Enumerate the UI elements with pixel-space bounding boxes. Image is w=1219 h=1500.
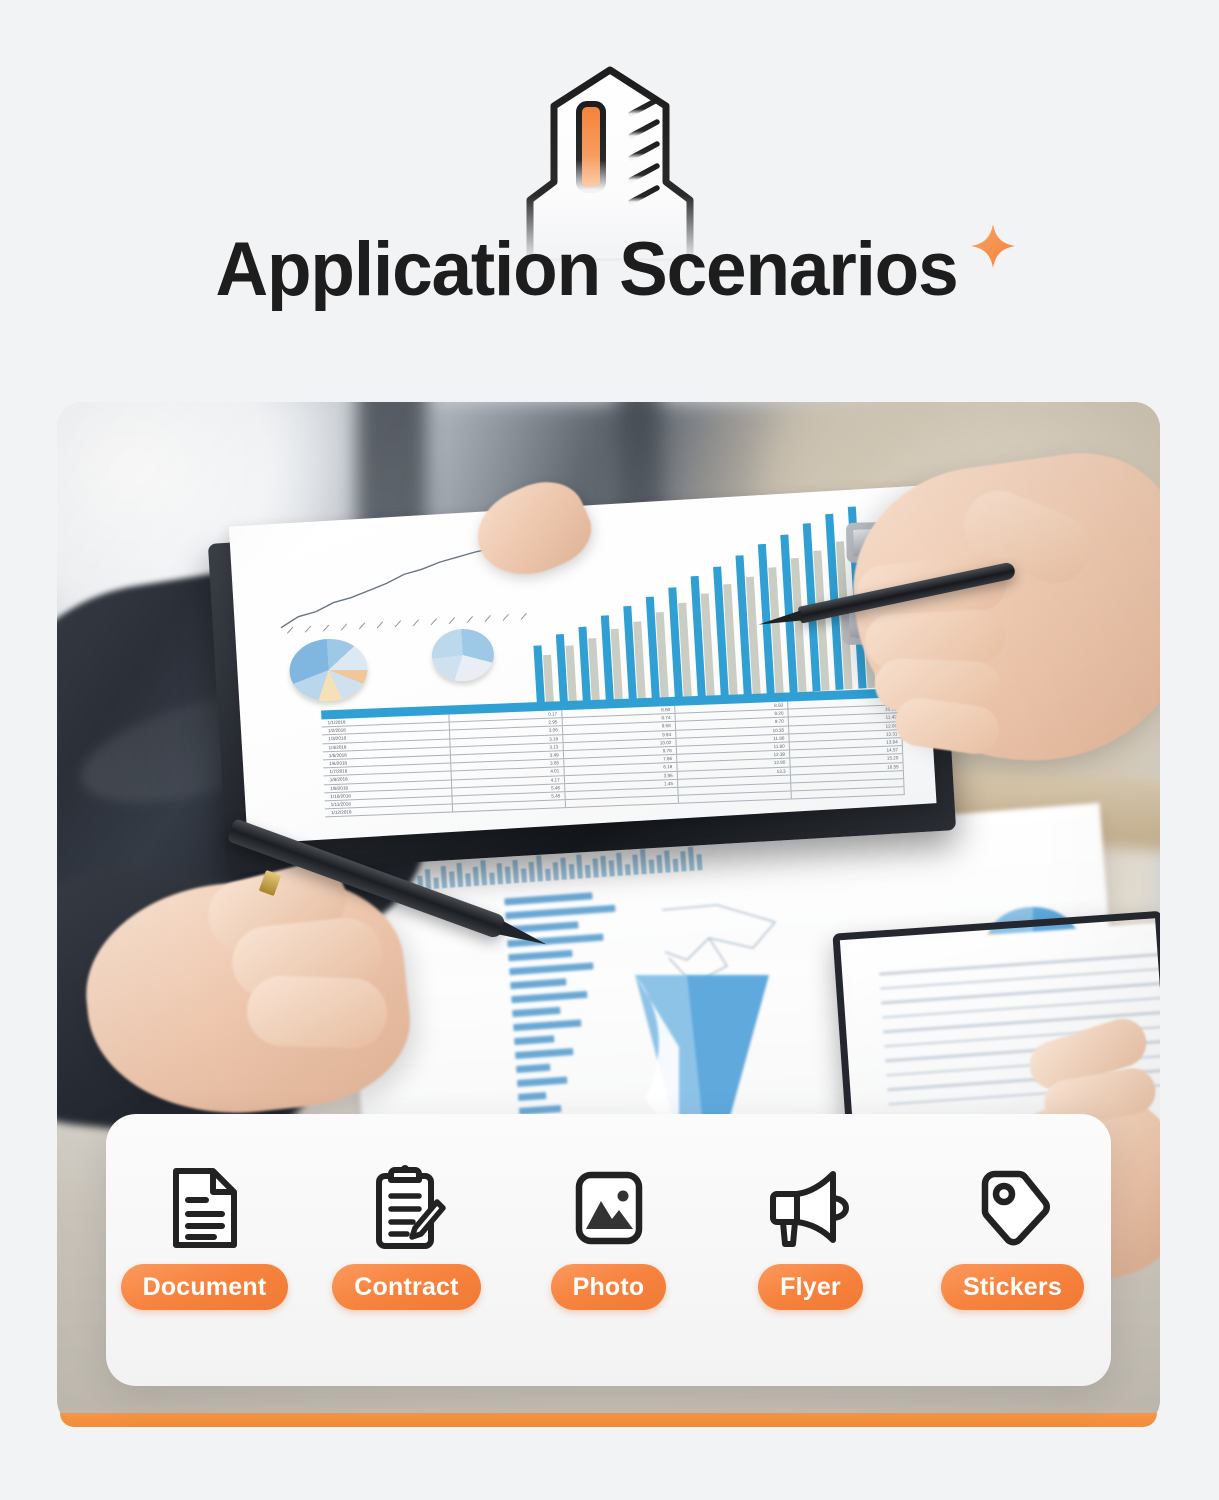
category-stickers[interactable]: Stickers	[927, 1162, 1099, 1310]
category-contract[interactable]: Contract	[321, 1162, 493, 1310]
category-badge-label[interactable]: Flyer	[758, 1264, 863, 1310]
category-badge-label[interactable]: Contract	[332, 1264, 480, 1310]
page-title-row: Application Scenarios	[0, 232, 1219, 308]
megaphone-icon	[767, 1162, 855, 1254]
page-title: Application Scenarios	[215, 232, 957, 308]
category-badge-label[interactable]: Stickers	[941, 1264, 1084, 1310]
categories-card: Document Contract	[106, 1114, 1111, 1386]
price-tag-icon	[973, 1162, 1053, 1254]
category-badge-label[interactable]: Document	[121, 1264, 289, 1310]
category-document[interactable]: Document	[119, 1162, 291, 1310]
photo-accent-bar	[60, 1413, 1157, 1427]
image-photo-icon	[571, 1162, 647, 1254]
sparkle-icon	[967, 220, 1019, 272]
category-photo[interactable]: Photo	[523, 1162, 695, 1310]
category-badge-label[interactable]: Photo	[551, 1264, 667, 1310]
document-page-icon	[169, 1162, 241, 1254]
category-flyer[interactable]: Flyer	[725, 1162, 897, 1310]
categories-row: Document Contract	[119, 1162, 1099, 1310]
clipboard-pencil-icon	[367, 1162, 447, 1254]
page-header: Application Scenarios	[0, 0, 1219, 392]
